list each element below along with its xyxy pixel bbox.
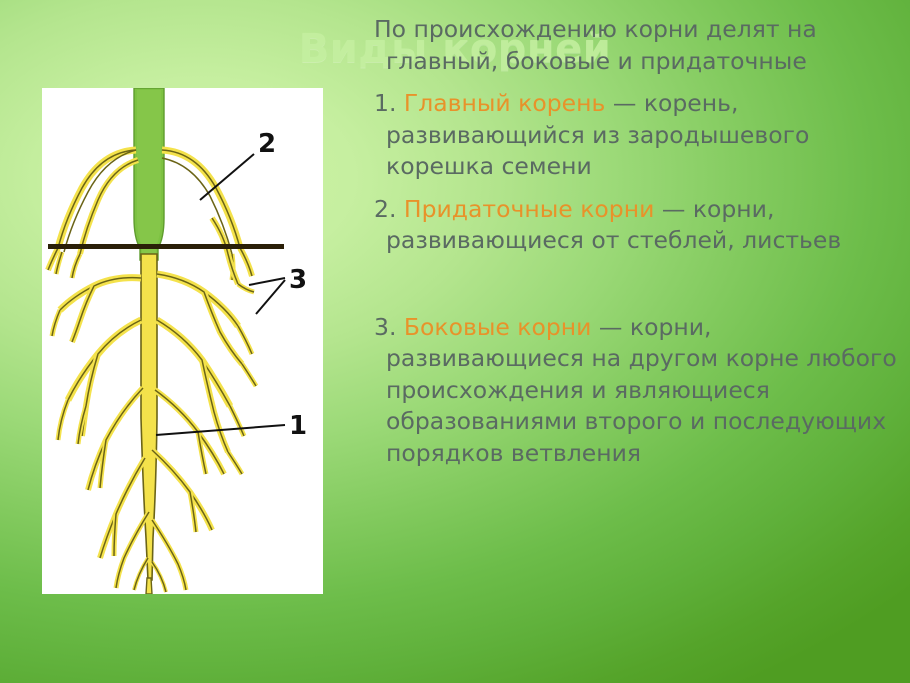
item-3-term: Боковые корни	[404, 313, 592, 341]
item-3-number: 3.	[374, 313, 396, 341]
list-item-1: 1. Главный корень — корень, развивающийс…	[374, 88, 902, 183]
slide-canvas: Виды корней	[0, 0, 910, 683]
list-item-2: 2. Придаточные корни — корни, развивающи…	[374, 194, 902, 257]
plant-stem	[134, 88, 164, 260]
item-2-term: Придаточные корни	[404, 195, 654, 223]
body-text-column: По происхождению корни делят на главный,…	[374, 14, 902, 469]
soil-line	[48, 244, 284, 249]
figure-label-3: 3	[289, 265, 307, 295]
item-3-dash: —	[599, 313, 623, 341]
item-2-dash: —	[662, 195, 686, 223]
list-item-3: 3. Боковые корни — корни, развивающиеся …	[374, 312, 902, 470]
figure-panel: 2 3 1	[42, 88, 323, 594]
item-1-number: 1.	[374, 89, 396, 117]
intro-text: По происхождению корни делят на главный,…	[374, 15, 817, 75]
item-2-number: 2.	[374, 195, 396, 223]
root-system-diagram: 2 3 1	[42, 88, 323, 594]
intro-paragraph: По происхождению корни делят на главный,…	[374, 14, 902, 77]
item-1-term: Главный корень	[404, 89, 605, 117]
item-1-dash: —	[613, 89, 637, 117]
figure-label-1: 1	[289, 411, 307, 441]
figure-label-2: 2	[258, 129, 276, 159]
